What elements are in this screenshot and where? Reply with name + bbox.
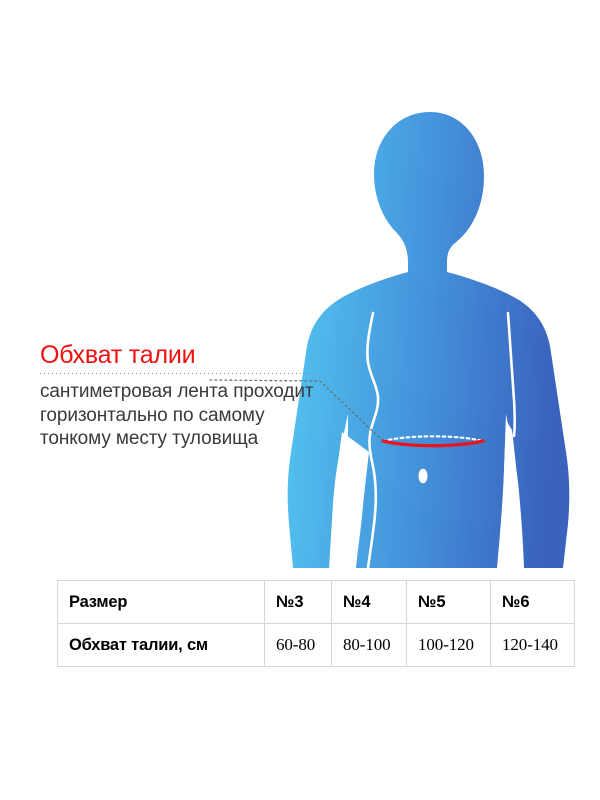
size-table-container: Размер №3 №4 №5 №6 Обхват талии, см 60-8… bbox=[57, 580, 544, 667]
infographic-page: Обхват талии сантиметровая лента проходи… bbox=[0, 0, 600, 800]
table-header-size-label: Размер bbox=[58, 581, 265, 624]
table-cell-waist-size-3: 60-80 bbox=[265, 624, 332, 667]
table-header-size-5: №5 bbox=[407, 581, 491, 624]
table-row: Обхват талии, см 60-80 80-100 100-120 12… bbox=[58, 624, 575, 667]
table-header-size-6: №6 bbox=[491, 581, 575, 624]
size-table: Размер №3 №4 №5 №6 Обхват талии, см 60-8… bbox=[57, 580, 575, 667]
table-cell-waist-size-4: 80-100 bbox=[332, 624, 407, 667]
table-cell-waist-size-6: 120-140 bbox=[491, 624, 575, 667]
callout-divider bbox=[40, 373, 317, 374]
table-header-size-4: №4 bbox=[332, 581, 407, 624]
table-header-size-3: №3 bbox=[265, 581, 332, 624]
navel-dot bbox=[418, 469, 427, 483]
callout-description: сантиметровая лента проходит горизонталь… bbox=[40, 380, 340, 451]
table-row-header: Размер №3 №4 №5 №6 bbox=[58, 581, 575, 624]
callout-title: Обхват талии bbox=[40, 340, 340, 370]
callout-block: Обхват талии сантиметровая лента проходи… bbox=[40, 340, 340, 451]
table-cell-waist-size-5: 100-120 bbox=[407, 624, 491, 667]
table-row-label-waist: Обхват талии, см bbox=[58, 624, 265, 667]
